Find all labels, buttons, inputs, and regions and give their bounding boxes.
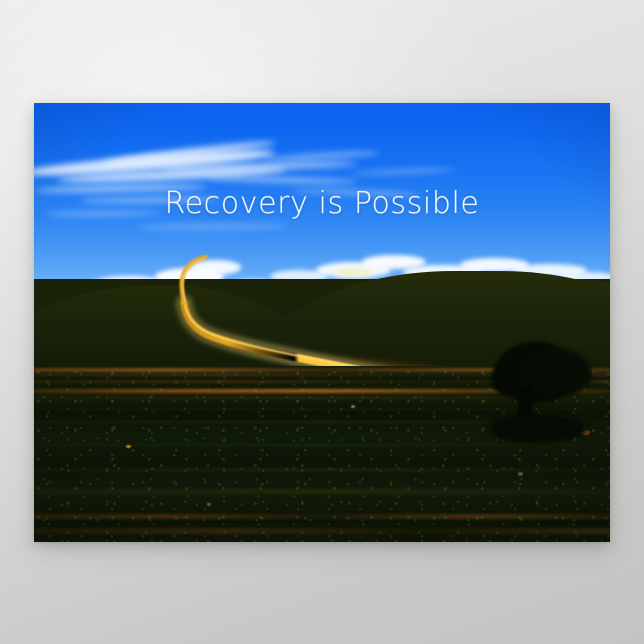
field-speckle	[34, 366, 610, 542]
poster-caption: Recovery is Possible	[34, 189, 610, 219]
motivational-poster: Recovery is Possible	[34, 103, 610, 542]
field-fleck	[351, 405, 355, 408]
foreground-field	[34, 366, 610, 542]
field-fleck	[518, 472, 523, 476]
field-fleck	[581, 430, 590, 435]
page-background: Recovery is Possible	[0, 0, 644, 644]
poster-photograph: Recovery is Possible	[34, 103, 610, 542]
